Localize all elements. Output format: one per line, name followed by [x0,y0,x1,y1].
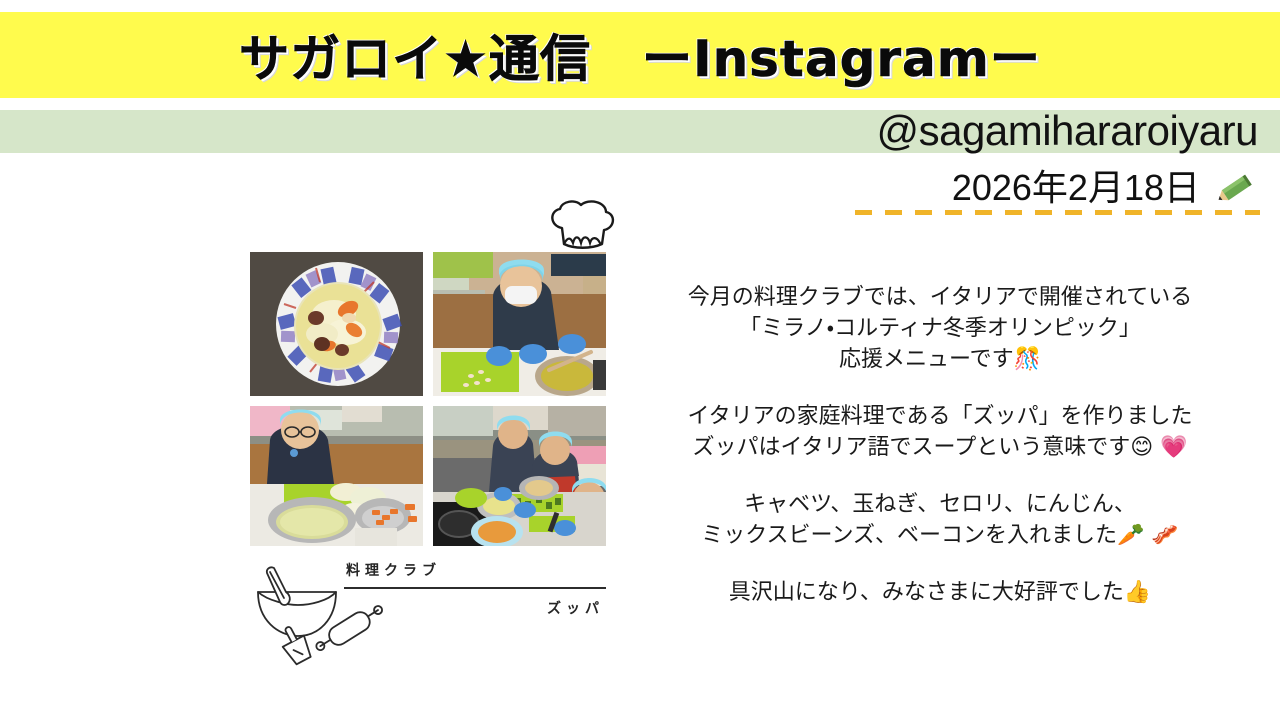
post-paragraph: 具沢山になり、みなさまに大好評でした👍 [628,577,1252,608]
pencil-icon [1214,168,1258,208]
photo-collage [250,252,606,546]
collage-photo-2[interactable] [433,252,606,396]
collage-caption: 料理クラブ ズッパ [344,560,606,618]
caption-top-label: 料理クラブ [344,560,606,587]
date-underline [855,210,1260,215]
post-paragraph: イタリアの家庭料理である「ズッパ」を作りました ズッパはイタリア語でスープという… [628,401,1252,463]
date-row: 2026年2月18日 [952,168,1258,208]
caption-bottom-label: ズッパ [344,589,606,618]
post-body: 今月の料理クラブでは、イタリアで開催されている 「ミラノ・コルティナ冬季オリンピ… [628,282,1252,608]
post-paragraph: キャベツ、玉ねぎ、セロリ、にんじん、 ミックスビーンズ、ベーコンを入れました🥕 … [628,489,1252,551]
instagram-handle[interactable]: @sagamihararoiyaru [877,108,1258,154]
page-title: サガロイ★通信 ーInstagramー [0,12,1280,98]
post-paragraph: 今月の料理クラブでは、イタリアで開催されている 「ミラノ・コルティナ冬季オリンピ… [628,282,1252,375]
collage-photo-3[interactable] [250,406,423,546]
chef-hat-icon [544,198,620,256]
collage-photo-1[interactable] [250,252,423,396]
collage-photo-4[interactable] [433,406,606,546]
date-text: 2026年2月18日 [952,168,1200,208]
